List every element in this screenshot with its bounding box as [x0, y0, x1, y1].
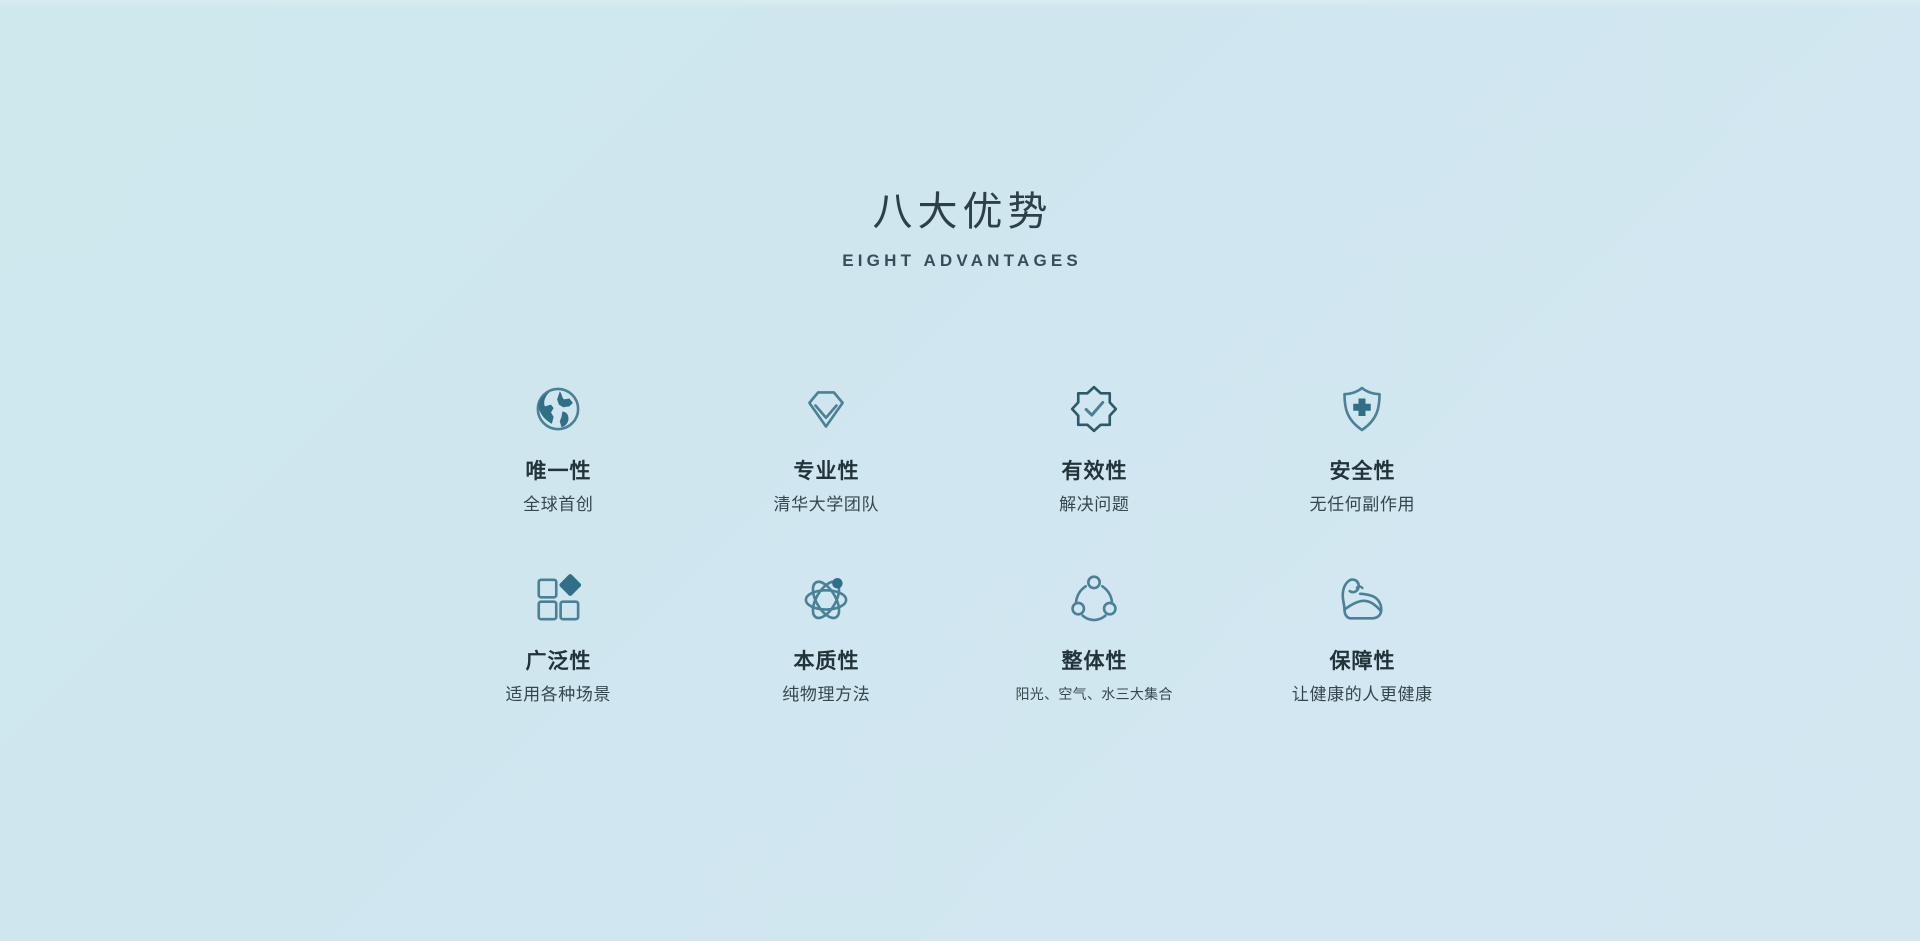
- card-title: 广泛性: [525, 649, 592, 675]
- card-title: 本质性: [793, 649, 860, 675]
- page-subtitle: EIGHT ADVANTAGES: [0, 250, 1920, 272]
- card-title: 有效性: [1061, 459, 1128, 485]
- advantage-card-effectiveness: 有效性 解决问题: [960, 378, 1228, 568]
- advantages-section: 八大优势 EIGHT ADVANTAGES 唯一性 全球首创: [0, 0, 1920, 941]
- advantage-card-essence: 本质性 纯物理方法: [692, 568, 960, 758]
- atom-icon: [795, 568, 857, 630]
- advantage-card-safety: 安全性 无任何副作用: [1228, 378, 1496, 568]
- card-subtitle: 阳光、空气、水三大集合: [1015, 683, 1173, 705]
- card-subtitle: 让健康的人更健康: [1291, 683, 1432, 707]
- section-heading: 八大优势 EIGHT ADVANTAGES: [0, 188, 1920, 272]
- card-subtitle: 解决问题: [1059, 493, 1130, 517]
- card-subtitle: 无任何副作用: [1309, 493, 1415, 517]
- top-sheen-decoration: [0, 0, 1920, 8]
- card-title: 保障性: [1329, 649, 1396, 675]
- advantage-card-universality: 广泛性 适用各种场景: [424, 568, 692, 758]
- card-subtitle: 全球首创: [523, 493, 594, 517]
- advantage-card-assurance: 保障性 让健康的人更健康: [1228, 568, 1496, 758]
- advantage-card-professionalism: 专业性 清华大学团队: [692, 378, 960, 568]
- globe-icon: [527, 378, 589, 440]
- shield-plus-icon: [1331, 378, 1393, 440]
- advantage-card-uniqueness: 唯一性 全球首创: [424, 378, 692, 568]
- card-title: 唯一性: [525, 459, 592, 485]
- card-subtitle: 清华大学团队: [773, 493, 879, 517]
- advantage-card-integrity: 整体性 阳光、空气、水三大集合: [960, 568, 1228, 758]
- card-subtitle: 纯物理方法: [782, 683, 871, 707]
- advantages-grid: 唯一性 全球首创 专业性 清华大学团队 有效性: [424, 378, 1496, 758]
- card-title: 专业性: [793, 459, 860, 485]
- star-badge-check-icon: [1063, 378, 1125, 440]
- network-nodes-icon: [1063, 568, 1125, 630]
- card-subtitle: 适用各种场景: [505, 683, 611, 707]
- page-title: 八大优势: [0, 188, 1920, 236]
- card-title: 安全性: [1329, 459, 1396, 485]
- diamond-gem-icon: [795, 378, 857, 440]
- card-title: 整体性: [1061, 649, 1128, 675]
- squares-diamond-icon: [527, 568, 589, 630]
- flexed-bicep-icon: [1331, 568, 1393, 630]
